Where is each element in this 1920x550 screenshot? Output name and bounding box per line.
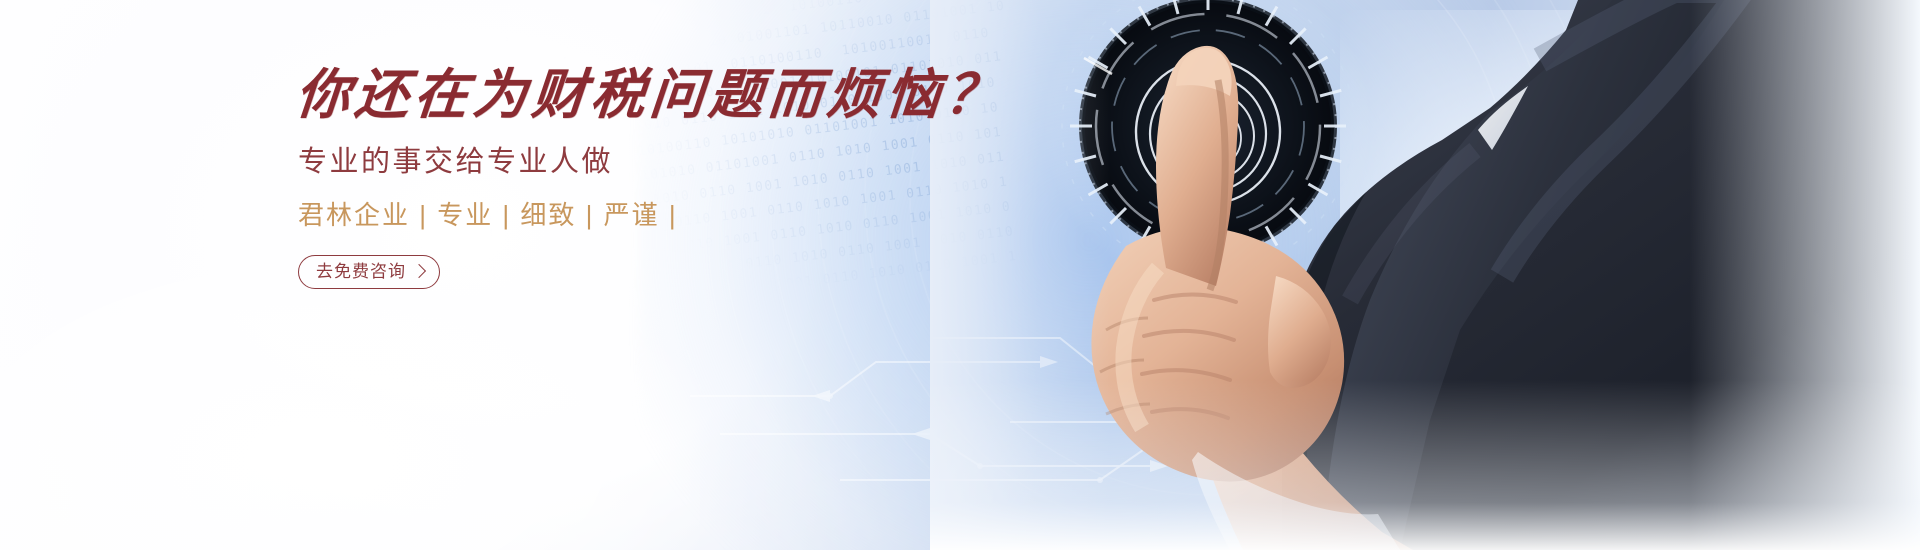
banner-headline: 你还在为财税问题而烦恼？ bbox=[293, 66, 998, 123]
cta-row: 去免费咨询 bbox=[298, 255, 996, 289]
hero-banner: 10101010 01101001 10100110 01011010 1010… bbox=[0, 0, 1920, 550]
chevron-right-icon bbox=[412, 264, 426, 278]
free-consultation-button[interactable]: 去免费咨询 bbox=[298, 255, 440, 289]
banner-copy: 你还在为财税问题而烦恼？ 专业的事交给专业人做 君林企业 | 专业 | 细致 |… bbox=[296, 66, 996, 289]
businessman-photo bbox=[930, 0, 1920, 550]
cta-label: 去免费咨询 bbox=[316, 263, 406, 280]
banner-subtitle: 专业的事交给专业人做 bbox=[298, 145, 996, 180]
businessman-illustration bbox=[930, 0, 1920, 550]
banner-tagline: 君林企业 | 专业 | 细致 | 严谨 | bbox=[298, 200, 996, 231]
